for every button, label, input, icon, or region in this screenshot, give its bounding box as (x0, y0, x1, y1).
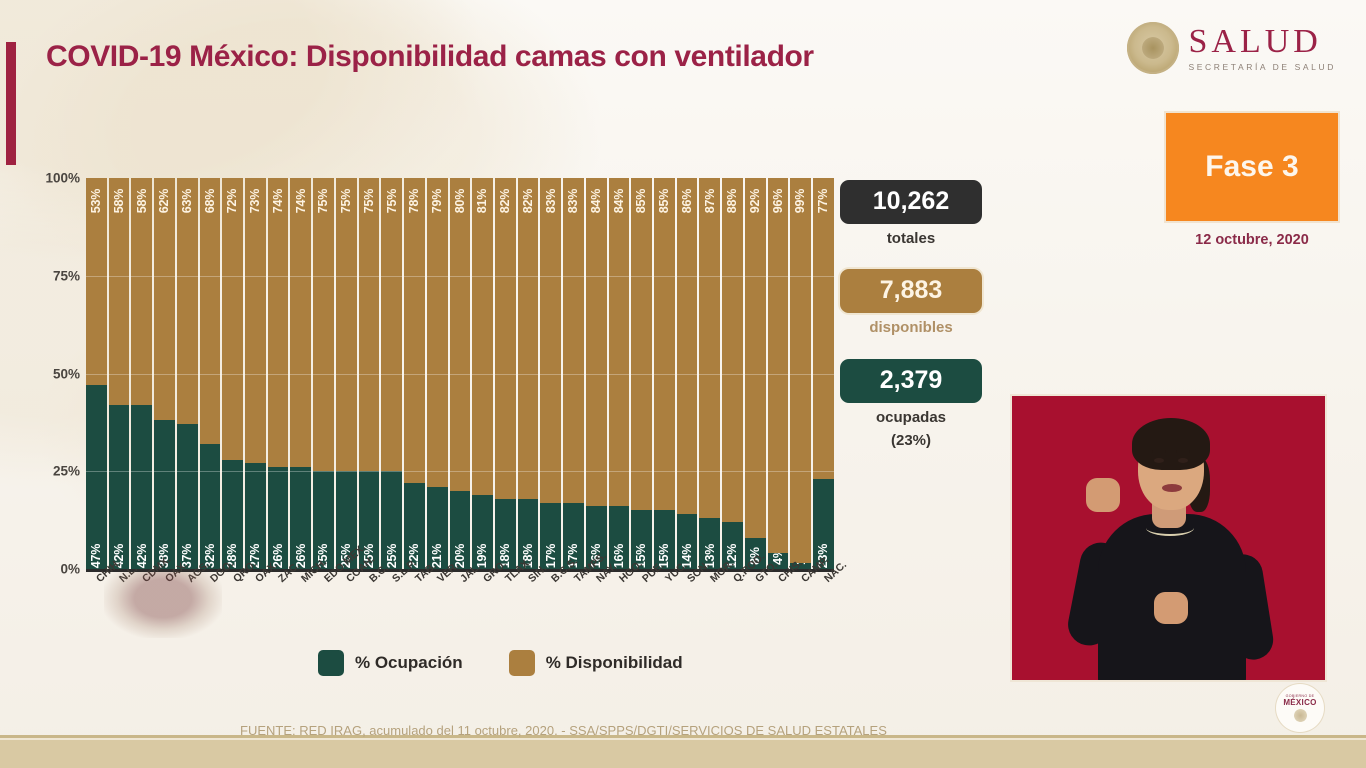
bar-segment-ocupacion: 18% (495, 499, 516, 569)
footer-source: FUENTE: RED IRAG, acumulado del 11 octub… (240, 723, 887, 738)
bar-segment-ocupacion: 28% (222, 460, 243, 569)
bar-label-disponibilidad: 73% (248, 189, 262, 213)
bar-segment-ocupacion: 17% (540, 503, 561, 569)
chart-bar-column: 58%42% (109, 178, 130, 569)
bar-label-disponibilidad: 81% (476, 189, 490, 213)
bar-segment-disponibilidad: 79% (427, 178, 448, 487)
phase-label: Fase 3 (1205, 150, 1298, 184)
bar-segment-disponibilidad: 99% (790, 178, 811, 563)
bar-label-disponibilidad: 86% (680, 189, 694, 213)
summary-stats: 10,262 totales 7,883 disponibles 2,379 o… (840, 180, 982, 449)
bar-label-disponibilidad: 74% (294, 189, 308, 213)
chart-bar-column: 83%17% (540, 178, 561, 569)
bar-segment-ocupacion: 20% (450, 491, 471, 569)
bar-segment-ocupacion: 27% (245, 463, 266, 569)
occupied-beds-value: 2,379 (840, 359, 982, 403)
bar-segment-disponibilidad: 78% (404, 178, 425, 483)
bar-segment-disponibilidad: 75% (336, 178, 357, 471)
interpreter-raised-hand (1086, 478, 1120, 512)
bar-segment-ocupacion: 25% (313, 471, 334, 569)
available-beds-caption: disponibles (840, 319, 982, 336)
chart-bar-column: 82%18% (495, 178, 516, 569)
bar-segment-disponibilidad: 86% (677, 178, 698, 514)
chart-bar-column: 73%27% (245, 178, 266, 569)
bar-label-disponibilidad: 58% (135, 189, 149, 213)
legend-item-disponibilidad: % Disponibilidad (509, 650, 683, 676)
bar-segment-disponibilidad: 68% (200, 178, 221, 444)
chart-bar-column: 74%26% (290, 178, 311, 569)
bar-segment-disponibilidad: 82% (495, 178, 516, 499)
x-axis-labels: CHIH.N.L.CDMX.OAX.AGS.DGO.QRO.OAX.ZAC.MI… (86, 572, 834, 632)
chart-bar-column: 68%32% (200, 178, 221, 569)
interpreter-hair (1132, 418, 1210, 470)
bar-segment-disponibilidad: 77% (813, 178, 834, 479)
y-axis: 0%25%50%75%100% (22, 170, 80, 580)
bar-segment-disponibilidad: 96% (768, 178, 789, 553)
bar-segment-ocupacion: 19% (472, 495, 493, 569)
bar-label-ocupacion: 42% (135, 544, 149, 568)
bar-segment-ocupacion: 42% (109, 405, 130, 569)
gob-seal-emblem-icon (1294, 709, 1307, 722)
salud-logo: SALUD SECRETARÍA DE SALUD (1127, 22, 1337, 74)
chart-plot: 53%47%58%42%58%42%62%38%63%37%68%32%72%2… (86, 178, 834, 569)
chart-bar-column: 63%37% (177, 178, 198, 569)
legend-swatch-ocupacion (318, 650, 344, 676)
bar-segment-disponibilidad: 53% (86, 178, 107, 385)
phase-badge: Fase 3 (1166, 113, 1338, 221)
bar-label-ocupacion: 47% (89, 544, 103, 568)
sign-language-interpreter-video (1012, 396, 1325, 680)
chart-bar-column: 82%18% (518, 178, 539, 569)
bar-segment-disponibilidad: 75% (381, 178, 402, 471)
bar-label-disponibilidad: 96% (771, 189, 785, 213)
bar-label-disponibilidad: 84% (589, 189, 603, 213)
bar-segment-ocupacion: 47% (86, 385, 107, 569)
bar-segment-disponibilidad: 92% (745, 178, 766, 538)
bar-segment-disponibilidad: 84% (609, 178, 630, 506)
bar-segment-disponibilidad: 72% (222, 178, 243, 460)
interpreter-eye-right (1178, 458, 1188, 463)
bar-segment-disponibilidad: 88% (722, 178, 743, 522)
salud-subtitle: SECRETARÍA DE SALUD (1189, 63, 1337, 72)
interpreter-lower-hand (1154, 592, 1188, 624)
y-axis-tick: 100% (45, 171, 80, 186)
bar-label-disponibilidad: 83% (544, 189, 558, 213)
bar-segment-disponibilidad: 80% (450, 178, 471, 491)
chart-bar-column: 74%26% (268, 178, 289, 569)
bar-segment-disponibilidad: 85% (631, 178, 652, 510)
bar-label-disponibilidad: 75% (385, 189, 399, 213)
chart-bar-column: 80%20% (450, 178, 471, 569)
chart-bar-column: 96%4% (768, 178, 789, 569)
chart-bar-column: 75%25% (313, 178, 334, 569)
phase-date: 12 octubre, 2020 (1166, 232, 1338, 248)
mexican-eagle-seal-icon (1127, 22, 1179, 74)
chart-bar-column: 92%8% (745, 178, 766, 569)
gob-seal-main-text: MÉXICO (1283, 698, 1316, 707)
bar-segment-ocupacion: 32% (200, 444, 221, 569)
interpreter-brow-right (1176, 450, 1190, 453)
bar-segment-ocupacion: 25% (381, 471, 402, 569)
bar-segment-disponibilidad: 75% (313, 178, 334, 471)
chart-bar-column: 75%25% (359, 178, 380, 569)
chart-bar-column: 85%15% (654, 178, 675, 569)
stats-spacer-1 (840, 247, 982, 269)
bar-segment-disponibilidad: 83% (563, 178, 584, 503)
chart-bar-column: 87%13% (699, 178, 720, 569)
chart-bar-column: 88%12% (722, 178, 743, 569)
bar-label-disponibilidad: 85% (635, 189, 649, 213)
chart-bar-column: 75%25% (336, 178, 357, 569)
bar-segment-disponibilidad: 58% (131, 178, 152, 405)
bar-label-disponibilidad: 74% (271, 189, 285, 213)
interpreter-mouth (1162, 484, 1182, 492)
bar-label-disponibilidad: 75% (317, 189, 331, 213)
bar-label-disponibilidad: 68% (203, 189, 217, 213)
bar-segment-disponibilidad: 58% (109, 178, 130, 405)
chart-bar-column: 81%19% (472, 178, 493, 569)
y-axis-tick: 50% (53, 366, 80, 381)
interpreter-eye-left (1154, 458, 1164, 463)
y-axis-tick: 0% (60, 562, 80, 577)
chart-bar-column: 85%15% (631, 178, 652, 569)
bar-label-disponibilidad: 75% (362, 189, 376, 213)
chart-bar-column: 72%28% (222, 178, 243, 569)
chart-bar-column: 84%16% (609, 178, 630, 569)
bar-label-ocupacion: 25% (385, 544, 399, 568)
bar-label-disponibilidad: 58% (112, 189, 126, 213)
bar-label-disponibilidad: 88% (725, 189, 739, 213)
bar-segment-disponibilidad: 74% (268, 178, 289, 467)
chart-legend: % Ocupación % Disponibilidad (318, 650, 683, 676)
bar-segment-ocupacion: 37% (177, 424, 198, 569)
chart-bar-column: 83%17% (563, 178, 584, 569)
bar-label-disponibilidad: 53% (89, 189, 103, 213)
bar-label-disponibilidad: 63% (180, 189, 194, 213)
legend-label-disponibilidad: % Disponibilidad (546, 653, 683, 673)
bar-segment-disponibilidad: 82% (518, 178, 539, 499)
bar-segment-ocupacion: 21% (427, 487, 448, 569)
legend-swatch-disponibilidad (509, 650, 535, 676)
bar-label-disponibilidad: 83% (566, 189, 580, 213)
y-axis-tick: 25% (53, 464, 80, 479)
bar-label-disponibilidad: 72% (226, 189, 240, 213)
bar-label-disponibilidad: 92% (748, 189, 762, 213)
bar-segment-disponibilidad: 62% (154, 178, 175, 420)
bar-label-disponibilidad: 82% (498, 189, 512, 213)
interpreter-figure (1012, 396, 1325, 680)
chart-bar-column: 86%14% (677, 178, 698, 569)
bar-segment-disponibilidad: 83% (540, 178, 561, 503)
bar-label-disponibilidad: 80% (453, 189, 467, 213)
legend-item-ocupacion: % Ocupación (318, 650, 463, 676)
bar-segment-disponibilidad: 73% (245, 178, 266, 463)
bar-segment-ocupacion: 26% (268, 467, 289, 569)
bar-segment-disponibilidad: 84% (586, 178, 607, 506)
stats-spacer-2 (840, 337, 982, 359)
bar-label-disponibilidad: 87% (703, 189, 717, 213)
bar-segment-ocupacion: 22% (404, 483, 425, 569)
bar-segment-ocupacion: 42% (131, 405, 152, 569)
bar-label-disponibilidad: 62% (158, 189, 172, 213)
chart-bar-column: 77%23% (813, 178, 834, 569)
salud-wordmark: SALUD (1189, 25, 1337, 59)
bar-label-disponibilidad: 85% (657, 189, 671, 213)
legend-label-ocupacion: % Ocupación (355, 653, 463, 673)
chart-bar-column: 75%25% (381, 178, 402, 569)
y-axis-tick: 75% (53, 268, 80, 283)
bar-segment-ocupacion: 26% (290, 467, 311, 569)
chart-bar-column: 78%22% (404, 178, 425, 569)
bar-segment-ocupacion: 16% (609, 506, 630, 569)
bar-segment-ocupacion: 38% (154, 420, 175, 569)
bar-segment-disponibilidad: 75% (359, 178, 380, 471)
bar-segment-disponibilidad: 74% (290, 178, 311, 467)
bar-segment-disponibilidad: 63% (177, 178, 198, 424)
gobierno-de-mexico-seal-icon: GOBIERNO DE MÉXICO (1276, 684, 1324, 732)
bar-segment-disponibilidad: 87% (699, 178, 720, 518)
occupied-beds-percent: (23%) (840, 432, 982, 449)
bar-label-disponibilidad: 78% (407, 189, 421, 213)
salud-logo-text: SALUD SECRETARÍA DE SALUD (1189, 25, 1337, 72)
bar-label-disponibilidad: 99% (794, 189, 808, 213)
total-beds-value: 10,262 (840, 180, 982, 224)
chart-bar-column: 84%16% (586, 178, 607, 569)
chart-bar-column: 62%38% (154, 178, 175, 569)
bar-label-disponibilidad: 79% (430, 189, 444, 213)
total-beds-caption: totales (840, 230, 982, 247)
bar-label-disponibilidad: 82% (521, 189, 535, 213)
bar-label-disponibilidad: 75% (339, 189, 353, 213)
occupied-beds-caption: ocupadas (840, 409, 982, 426)
chart-bar-column: 99%1% (790, 178, 811, 569)
chart-bar-column: 58%42% (131, 178, 152, 569)
bar-label-ocupacion: 17% (544, 544, 558, 568)
interpreter-brow-left (1152, 450, 1166, 453)
bar-segment-disponibilidad: 81% (472, 178, 493, 495)
bar-label-disponibilidad: 84% (612, 189, 626, 213)
interpreter-necklace (1146, 520, 1194, 536)
available-beds-value: 7,883 (840, 269, 982, 313)
chart-bar-column: 53%47% (86, 178, 107, 569)
chart-bar-column: 79%21% (427, 178, 448, 569)
bar-label-disponibilidad: 77% (816, 189, 830, 213)
bar-segment-disponibilidad: 85% (654, 178, 675, 510)
